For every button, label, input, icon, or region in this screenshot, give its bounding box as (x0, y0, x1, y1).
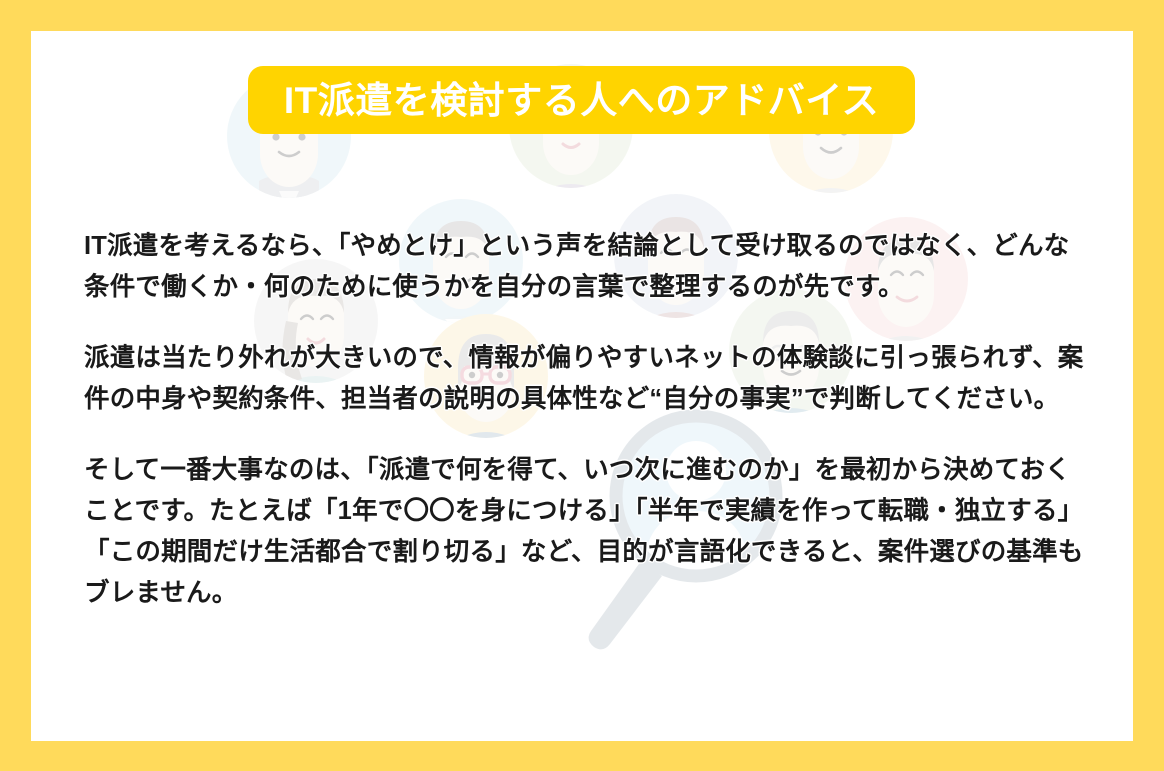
paragraph-1: IT派遣を考えるなら、「やめとけ」という声を結論として受け取るのではなく、どんな… (84, 226, 1094, 308)
slide-root: IT派遣を検討する人へのアドバイス IT派遣を考えるなら、「やめとけ」という声を… (0, 0, 1164, 771)
paragraph-2: 派遣は当たり外れが大きいので、情報が偏りやすいネットの体験談に引っ張られず、案件… (84, 338, 1094, 420)
slide-canvas: IT派遣を検討する人へのアドバイス IT派遣を考えるなら、「やめとけ」という声を… (31, 31, 1133, 741)
body-copy: IT派遣を考えるなら、「やめとけ」という声を結論として受け取るのではなく、どんな… (84, 226, 1094, 614)
paragraph-3: そして一番大事なのは、「派遣で何を得て、いつ次に進むのか」を最初から決めておくこ… (84, 450, 1094, 614)
page-title: IT派遣を検討する人へのアドバイス (284, 82, 879, 119)
title-badge: IT派遣を検討する人へのアドバイス (248, 66, 915, 134)
